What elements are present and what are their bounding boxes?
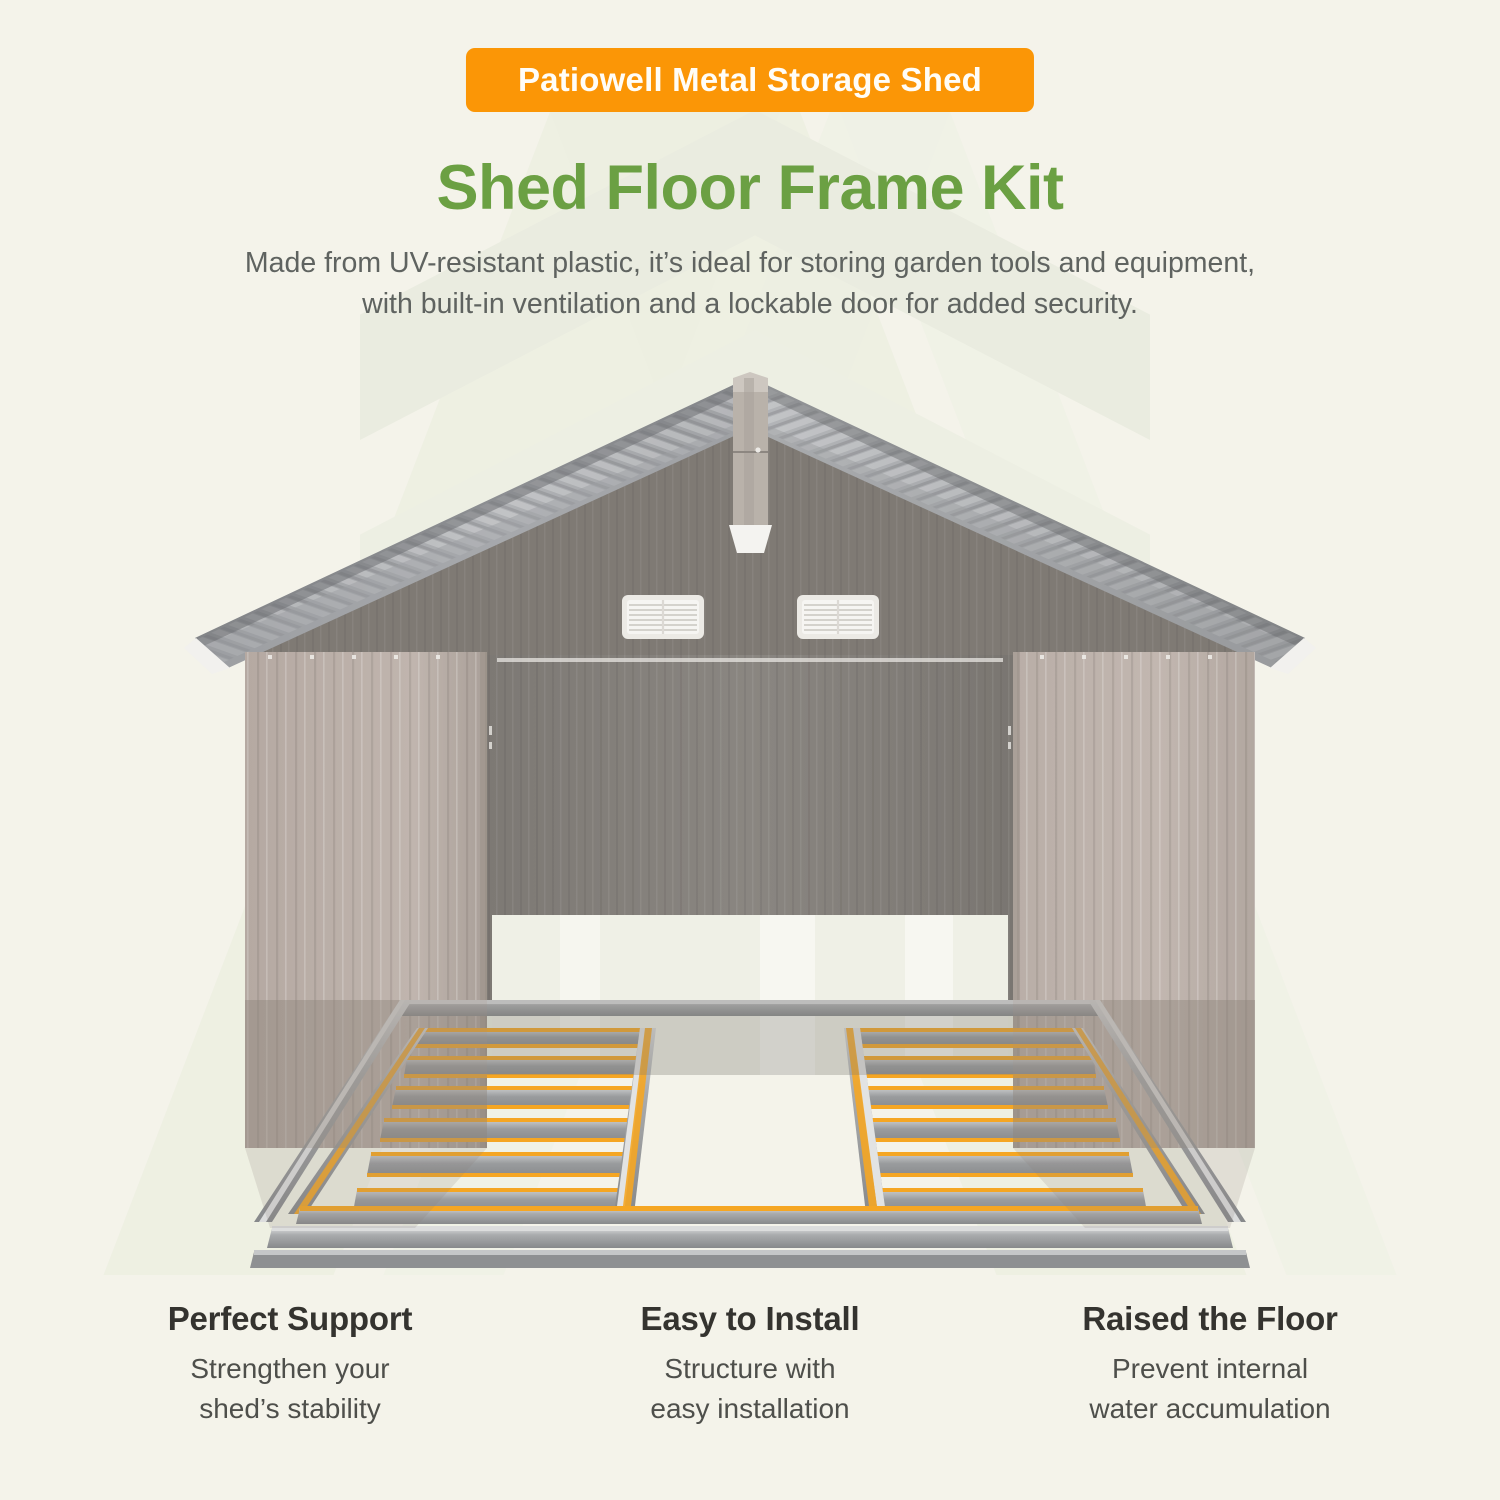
floor-frame	[245, 1000, 1255, 1268]
feature-title: Raised the Floor	[980, 1300, 1440, 1338]
feature-row: Perfect Support Strengthen your shed’s s…	[60, 1300, 1440, 1429]
product-illustration	[0, 0, 1500, 1500]
feature-easy-to-install: Easy to Install Structure with easy inst…	[520, 1300, 980, 1429]
feature-line-2: water accumulation	[980, 1389, 1440, 1429]
gable-vent-left	[622, 595, 704, 639]
feature-perfect-support: Perfect Support Strengthen your shed’s s…	[60, 1300, 520, 1429]
feature-line-1: Structure with	[520, 1349, 980, 1389]
feature-raised-the-floor: Raised the Floor Prevent internal water …	[980, 1300, 1440, 1429]
feature-line-2: shed’s stability	[60, 1389, 520, 1429]
gable-vent-right	[797, 595, 879, 639]
feature-title: Easy to Install	[520, 1300, 980, 1338]
feature-line-1: Strengthen your	[60, 1349, 520, 1389]
product-infographic: Patiowell Metal Storage Shed Shed Floor …	[0, 0, 1500, 1500]
feature-line-1: Prevent internal	[980, 1349, 1440, 1389]
ridge-cap	[729, 372, 772, 553]
feature-title: Perfect Support	[60, 1300, 520, 1338]
feature-line-2: easy installation	[520, 1389, 980, 1429]
